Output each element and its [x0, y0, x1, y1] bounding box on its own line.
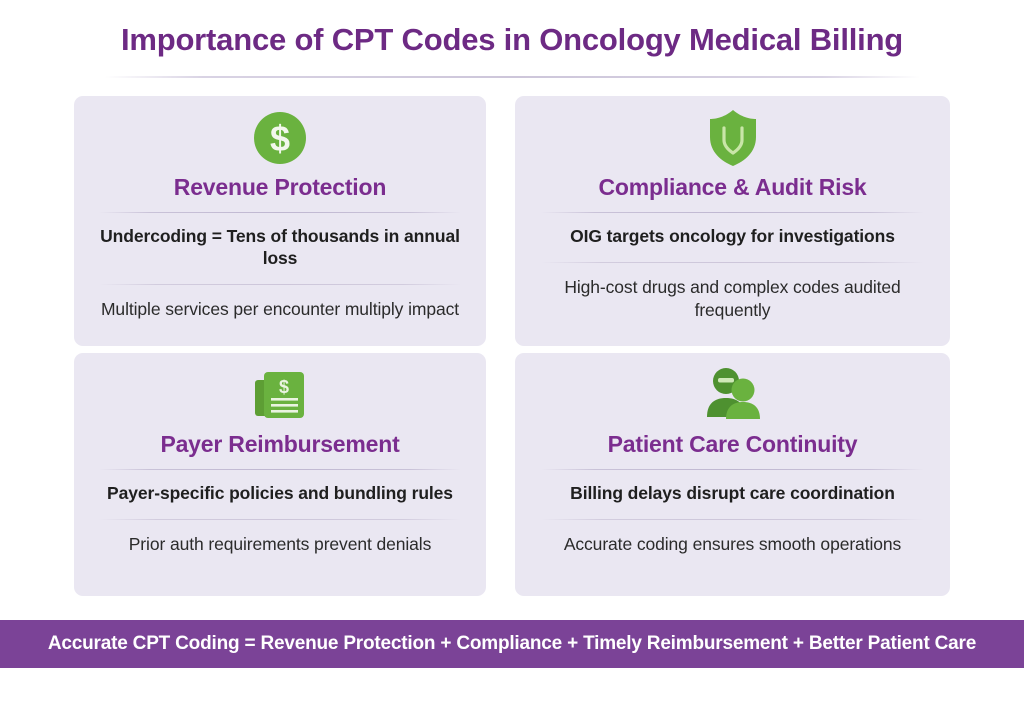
card-heading: Patient Care Continuity [515, 431, 950, 458]
card-heading: Compliance & Audit Risk [515, 174, 950, 201]
card-grid: $ Revenue Protection Undercoding = Tens … [74, 96, 950, 596]
card-bold-line: Payer-specific policies and bundling rul… [74, 470, 486, 505]
card-normal-line: High-cost drugs and complex codes audite… [515, 263, 950, 322]
dollar-circle-icon: $ [252, 110, 308, 166]
card-patient-care-continuity[interactable]: Patient Care Continuity Billing delays d… [515, 353, 950, 596]
card-icon-slot [515, 353, 950, 425]
card-payer-reimbursement[interactable]: $ Payer Reimbursement Payer-specific pol… [74, 353, 486, 596]
card-compliance-audit-risk[interactable]: Compliance & Audit Risk OIG targets onco… [515, 96, 950, 346]
summary-banner-text: Accurate CPT Coding = Revenue Protection… [48, 633, 976, 655]
card-icon-slot [515, 96, 950, 168]
summary-banner: Accurate CPT Coding = Revenue Protection… [0, 620, 1024, 668]
shield-check-icon [707, 108, 759, 168]
card-heading: Revenue Protection [74, 174, 486, 201]
card-normal-line: Prior auth requirements prevent denials [74, 520, 486, 556]
card-icon-slot: $ [74, 96, 486, 168]
card-normal-line: Multiple services per encounter multiply… [74, 285, 486, 321]
card-icon-slot: $ [74, 353, 486, 425]
svg-text:$: $ [270, 118, 290, 159]
page-title: Importance of CPT Codes in Oncology Medi… [0, 22, 1024, 58]
svg-text:$: $ [279, 377, 289, 397]
invoice-dollar-icon: $ [251, 366, 309, 424]
title-divider [105, 76, 920, 78]
card-bold-line: Billing delays disrupt care coordination [515, 470, 950, 505]
card-normal-line: Accurate coding ensures smooth operation… [515, 520, 950, 556]
people-group-icon [703, 367, 763, 423]
card-revenue-protection[interactable]: $ Revenue Protection Undercoding = Tens … [74, 96, 486, 346]
card-bold-line: OIG targets oncology for investigations [515, 213, 950, 248]
card-heading: Payer Reimbursement [74, 431, 486, 458]
card-bold-line: Undercoding = Tens of thousands in annua… [74, 213, 486, 270]
